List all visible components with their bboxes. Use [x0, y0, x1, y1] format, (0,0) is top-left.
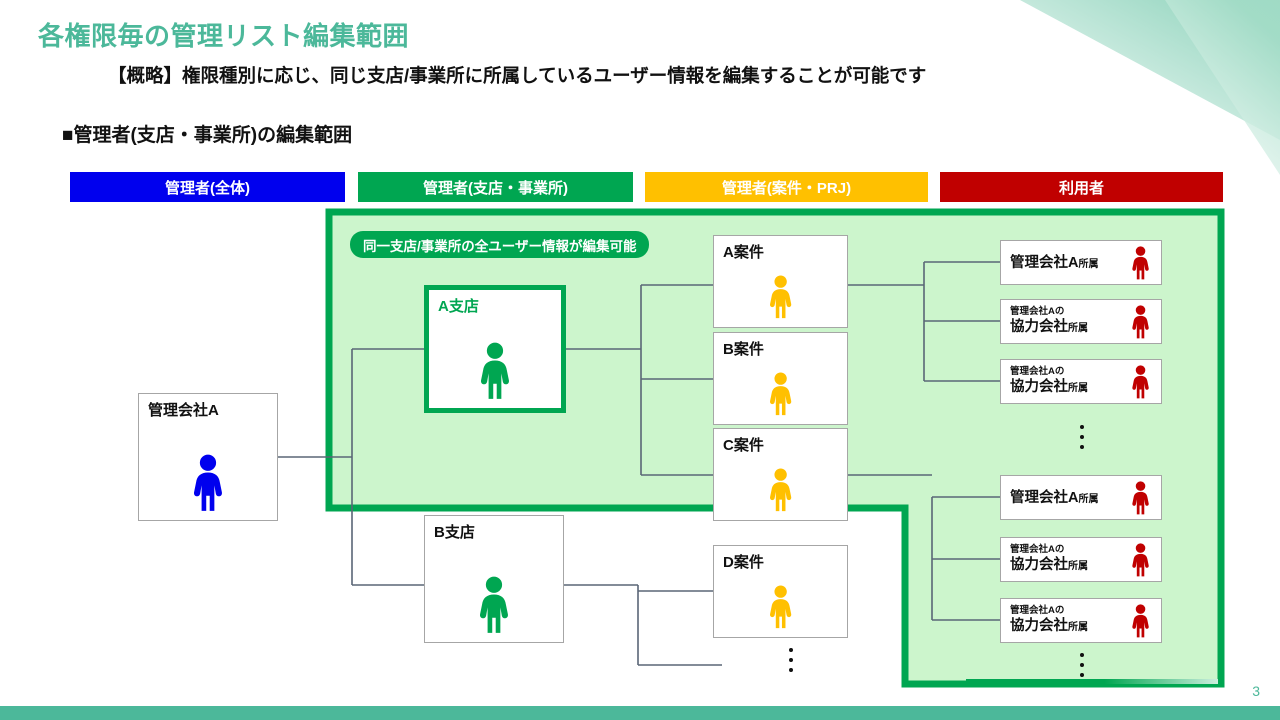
user-company: 協力会社 — [1010, 557, 1068, 573]
role-bar-label: 管理者(支店・事業所) — [423, 177, 568, 198]
user-suffix: 所属 — [1078, 259, 1098, 270]
user-company: 管理会社A — [1010, 255, 1078, 271]
person-icon — [1130, 305, 1151, 339]
node-figure — [714, 372, 847, 416]
person-icon — [476, 576, 512, 634]
user-box-user-5[interactable]: 管理会社Aの協力会社所属 — [1000, 537, 1162, 582]
node-project-d[interactable]: D案件 — [713, 545, 848, 638]
user-suffix: 所属 — [1078, 494, 1098, 505]
footer-bar — [0, 706, 1280, 720]
scope-callout: 同一支店/事業所の全ユーザー情報が編集可能 — [350, 231, 649, 258]
node-label: A支店 — [438, 295, 479, 316]
person-icon — [1130, 543, 1151, 577]
user-company: 協力会社 — [1010, 618, 1068, 634]
node-label: D案件 — [723, 551, 764, 572]
role-bar-label: 利用者 — [1059, 177, 1104, 198]
user-figure — [1121, 543, 1161, 577]
node-project-c[interactable]: C案件 — [713, 428, 848, 521]
node-figure — [425, 576, 563, 634]
person-icon — [477, 342, 513, 400]
user-text: 管理会社A所属 — [1001, 254, 1121, 272]
page-number: 3 — [1252, 683, 1260, 699]
user-parent: 管理会社Aの — [1010, 367, 1121, 378]
node-branch-a[interactable]: A支店 — [424, 285, 566, 413]
node-company[interactable]: 管理会社A — [138, 393, 278, 521]
section-heading: ■管理者(支店・事業所)の編集範囲 — [62, 120, 352, 147]
node-figure — [139, 454, 277, 512]
user-text: 管理会社Aの協力会社所属 — [1001, 606, 1121, 635]
node-label: 管理会社A — [148, 399, 219, 420]
ellipsis-users-upper — [1080, 425, 1084, 449]
user-box-user-4[interactable]: 管理会社A所属 — [1000, 475, 1162, 520]
user-suffix: 所属 — [1068, 561, 1088, 572]
ellipsis-users-lower — [1080, 653, 1084, 677]
page-title: 各権限毎の管理リスト編集範囲 — [38, 16, 409, 53]
user-text: 管理会社Aの協力会社所属 — [1001, 545, 1121, 574]
user-box-user-6[interactable]: 管理会社Aの協力会社所属 — [1000, 598, 1162, 643]
user-box-user-3[interactable]: 管理会社Aの協力会社所属 — [1000, 359, 1162, 404]
node-label: A案件 — [723, 241, 764, 262]
node-label: B案件 — [723, 338, 764, 359]
role-bar-2[interactable]: 管理者(案件・PRJ) — [645, 172, 928, 202]
node-label: B支店 — [434, 521, 475, 542]
node-figure — [714, 468, 847, 512]
user-box-user-2[interactable]: 管理会社Aの協力会社所属 — [1000, 299, 1162, 344]
page-subtitle: 【概略】権限種別に応じ、同じ支店/事業所に所属しているユーザー情報を編集すること… — [108, 62, 926, 88]
person-icon — [767, 468, 794, 512]
role-bar-label: 管理者(案件・PRJ) — [722, 177, 851, 198]
ellipsis-projects — [789, 648, 793, 672]
user-parent: 管理会社Aの — [1010, 606, 1121, 617]
user-figure — [1121, 246, 1161, 280]
user-parent: 管理会社Aの — [1010, 307, 1121, 318]
node-branch-b[interactable]: B支店 — [424, 515, 564, 643]
role-bar-1[interactable]: 管理者(支店・事業所) — [358, 172, 633, 202]
accent-bar — [966, 679, 1218, 684]
person-icon — [767, 585, 794, 629]
slide-canvas: 各権限毎の管理リスト編集範囲 【概略】権限種別に応じ、同じ支店/事業所に所属して… — [0, 0, 1280, 720]
user-figure — [1121, 365, 1161, 399]
node-project-a[interactable]: A案件 — [713, 235, 848, 328]
role-bar-label: 管理者(全体) — [165, 177, 250, 198]
node-project-b[interactable]: B案件 — [713, 332, 848, 425]
person-icon — [1130, 246, 1151, 280]
role-bar-0[interactable]: 管理者(全体) — [70, 172, 345, 202]
user-suffix: 所属 — [1068, 323, 1088, 334]
user-figure — [1121, 481, 1161, 515]
user-suffix: 所属 — [1068, 383, 1088, 394]
user-figure — [1121, 305, 1161, 339]
person-icon — [767, 372, 794, 416]
user-company: 管理会社A — [1010, 490, 1078, 506]
user-company: 協力会社 — [1010, 319, 1068, 335]
user-suffix: 所属 — [1068, 622, 1088, 633]
node-figure — [429, 342, 561, 400]
user-text: 管理会社Aの協力会社所属 — [1001, 367, 1121, 396]
user-text: 管理会社Aの協力会社所属 — [1001, 307, 1121, 336]
person-icon — [1130, 604, 1151, 638]
person-icon — [1130, 365, 1151, 399]
person-icon — [1130, 481, 1151, 515]
user-company: 協力会社 — [1010, 379, 1068, 395]
node-figure — [714, 275, 847, 319]
corner-decoration — [980, 0, 1280, 175]
user-parent: 管理会社Aの — [1010, 545, 1121, 556]
role-bar-3[interactable]: 利用者 — [940, 172, 1223, 202]
user-figure — [1121, 604, 1161, 638]
user-text: 管理会社A所属 — [1001, 489, 1121, 507]
node-figure — [714, 585, 847, 629]
node-label: C案件 — [723, 434, 764, 455]
user-box-user-1[interactable]: 管理会社A所属 — [1000, 240, 1162, 285]
person-icon — [767, 275, 794, 319]
person-icon — [190, 454, 226, 512]
